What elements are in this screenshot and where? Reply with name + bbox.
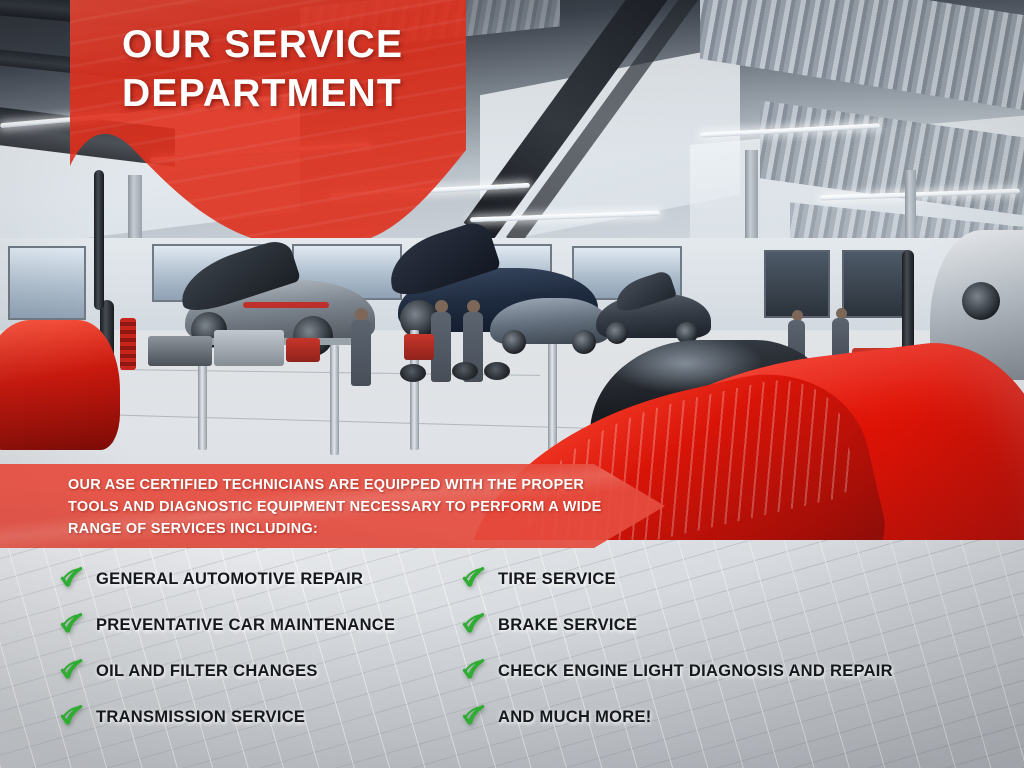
service-department-poster: E3 20 UAJ OUR SERVICE DEPARTMENT OUR ASE… xyxy=(0,0,1024,768)
green-check-icon xyxy=(462,613,486,637)
services-column-right: TIRE SERVICE BRAKE SERVICE xyxy=(462,556,1007,740)
garage-window xyxy=(8,246,86,320)
lift-post xyxy=(330,345,339,455)
list-item[interactable]: OIL AND FILTER CHANGES xyxy=(60,648,460,694)
list-item-label: TIRE SERVICE xyxy=(498,570,616,589)
list-item[interactable]: BRAKE SERVICE xyxy=(462,602,1007,648)
list-item-label: GENERAL AUTOMOTIVE REPAIR xyxy=(96,570,363,589)
green-check-icon xyxy=(60,705,84,729)
services-column-left: GENERAL AUTOMOTIVE REPAIR PREVENTATIVE C… xyxy=(60,556,460,740)
list-item[interactable]: GENERAL AUTOMOTIVE REPAIR xyxy=(60,556,460,602)
car-wheel xyxy=(962,282,1000,320)
coiled-hose xyxy=(120,318,136,370)
green-check-icon xyxy=(60,613,84,637)
car-wheel xyxy=(606,322,628,344)
list-item[interactable]: CHECK ENGINE LIGHT DIAGNOSIS AND REPAIR xyxy=(462,648,1007,694)
hanging-hose xyxy=(902,250,914,360)
technician-body xyxy=(431,312,451,382)
list-item-label: AND MUCH MORE! xyxy=(498,708,652,727)
list-item-label: CHECK ENGINE LIGHT DIAGNOSIS AND REPAIR xyxy=(498,662,893,681)
list-item[interactable]: PREVENTATIVE CAR MAINTENANCE xyxy=(60,602,460,648)
parked-car xyxy=(490,292,610,360)
spare-tire xyxy=(452,362,478,380)
foreground-car-left xyxy=(0,320,120,450)
green-check-icon xyxy=(462,705,486,729)
green-check-icon xyxy=(60,567,84,591)
list-item[interactable]: AND MUCH MORE! xyxy=(462,694,1007,740)
tool-cart xyxy=(286,338,320,362)
car-wheel xyxy=(502,330,526,354)
green-check-icon xyxy=(462,659,486,683)
intro-paragraph: OUR ASE CERTIFIED TECHNICIANS ARE EQUIPP… xyxy=(68,474,608,540)
page-title: OUR SERVICE DEPARTMENT xyxy=(122,20,452,118)
spare-tire xyxy=(400,364,426,382)
tool-cart xyxy=(404,334,434,360)
car-wheel xyxy=(572,330,596,354)
green-check-icon xyxy=(60,659,84,683)
list-item[interactable]: TIRE SERVICE xyxy=(462,556,1007,602)
list-item-label: BRAKE SERVICE xyxy=(498,616,637,635)
list-item-label: TRANSMISSION SERVICE xyxy=(96,708,305,727)
tail-light-strip xyxy=(243,302,329,308)
technician-body xyxy=(351,320,371,386)
list-item-label: PREVENTATIVE CAR MAINTENANCE xyxy=(96,616,395,635)
spare-tire xyxy=(484,362,510,380)
work-bench xyxy=(214,330,284,366)
list-item[interactable]: TRANSMISSION SERVICE xyxy=(60,694,460,740)
garage-window xyxy=(764,250,830,318)
technician xyxy=(348,308,374,388)
work-bench xyxy=(148,336,212,366)
green-check-icon xyxy=(462,567,486,591)
list-item-label: OIL AND FILTER CHANGES xyxy=(96,662,318,681)
hanging-hose xyxy=(94,170,104,310)
